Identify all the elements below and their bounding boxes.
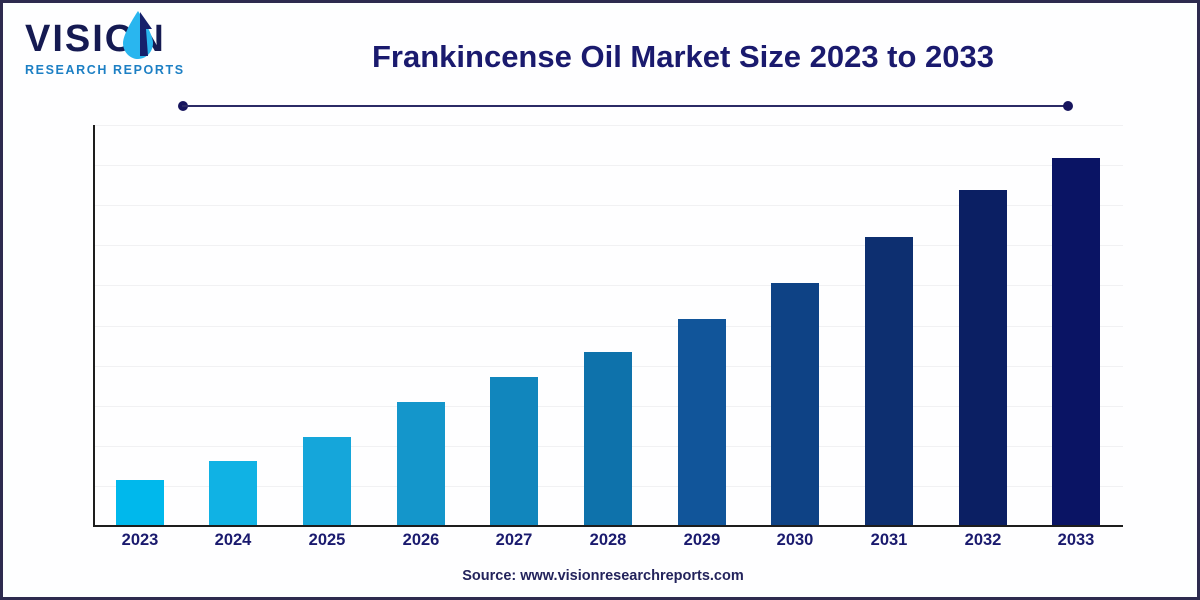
plot-area	[93, 125, 1123, 526]
logo-tagline: RESEARCH REPORTS	[25, 62, 215, 78]
page-title: Frankincense Oil Market Size 2023 to 203…	[233, 39, 1133, 75]
x-label-2027: 2027	[469, 531, 559, 550]
bar-2023	[116, 480, 164, 525]
bar-2027	[490, 377, 538, 525]
bar-2026	[397, 402, 445, 525]
x-label-2024: 2024	[188, 531, 278, 550]
bar-2024	[209, 461, 257, 525]
x-axis-line	[93, 525, 1123, 527]
x-label-2033: 2033	[1031, 531, 1121, 550]
divider-dot-right	[1063, 101, 1073, 111]
company-logo: VISION RESEARCH REPORTS	[25, 17, 215, 89]
x-label-2023: 2023	[95, 531, 185, 550]
x-label-2026: 2026	[376, 531, 466, 550]
chart-page: VISION RESEARCH REPORTS Frankincense Oil…	[0, 0, 1200, 600]
title-divider	[178, 101, 1073, 111]
x-label-2032: 2032	[938, 531, 1028, 550]
bar-2033	[1052, 158, 1100, 525]
x-label-2030: 2030	[750, 531, 840, 550]
x-label-2025: 2025	[282, 531, 372, 550]
bar-2028	[584, 352, 632, 525]
x-label-2029: 2029	[657, 531, 747, 550]
source-caption: Source: www.visionresearchreports.com	[3, 568, 1200, 584]
logo-wordmark: VISION	[25, 17, 215, 61]
bar-2029	[678, 319, 726, 525]
x-axis-labels: 2023202420252026202720282029203020312032…	[93, 531, 1123, 557]
bar-series	[93, 125, 1123, 526]
x-label-2028: 2028	[563, 531, 653, 550]
x-label-2031: 2031	[844, 531, 934, 550]
bar-2025	[303, 437, 351, 525]
bar-2032	[959, 190, 1007, 525]
bar-2030	[771, 283, 819, 525]
bar-2031	[865, 237, 913, 525]
divider-line	[182, 105, 1069, 107]
